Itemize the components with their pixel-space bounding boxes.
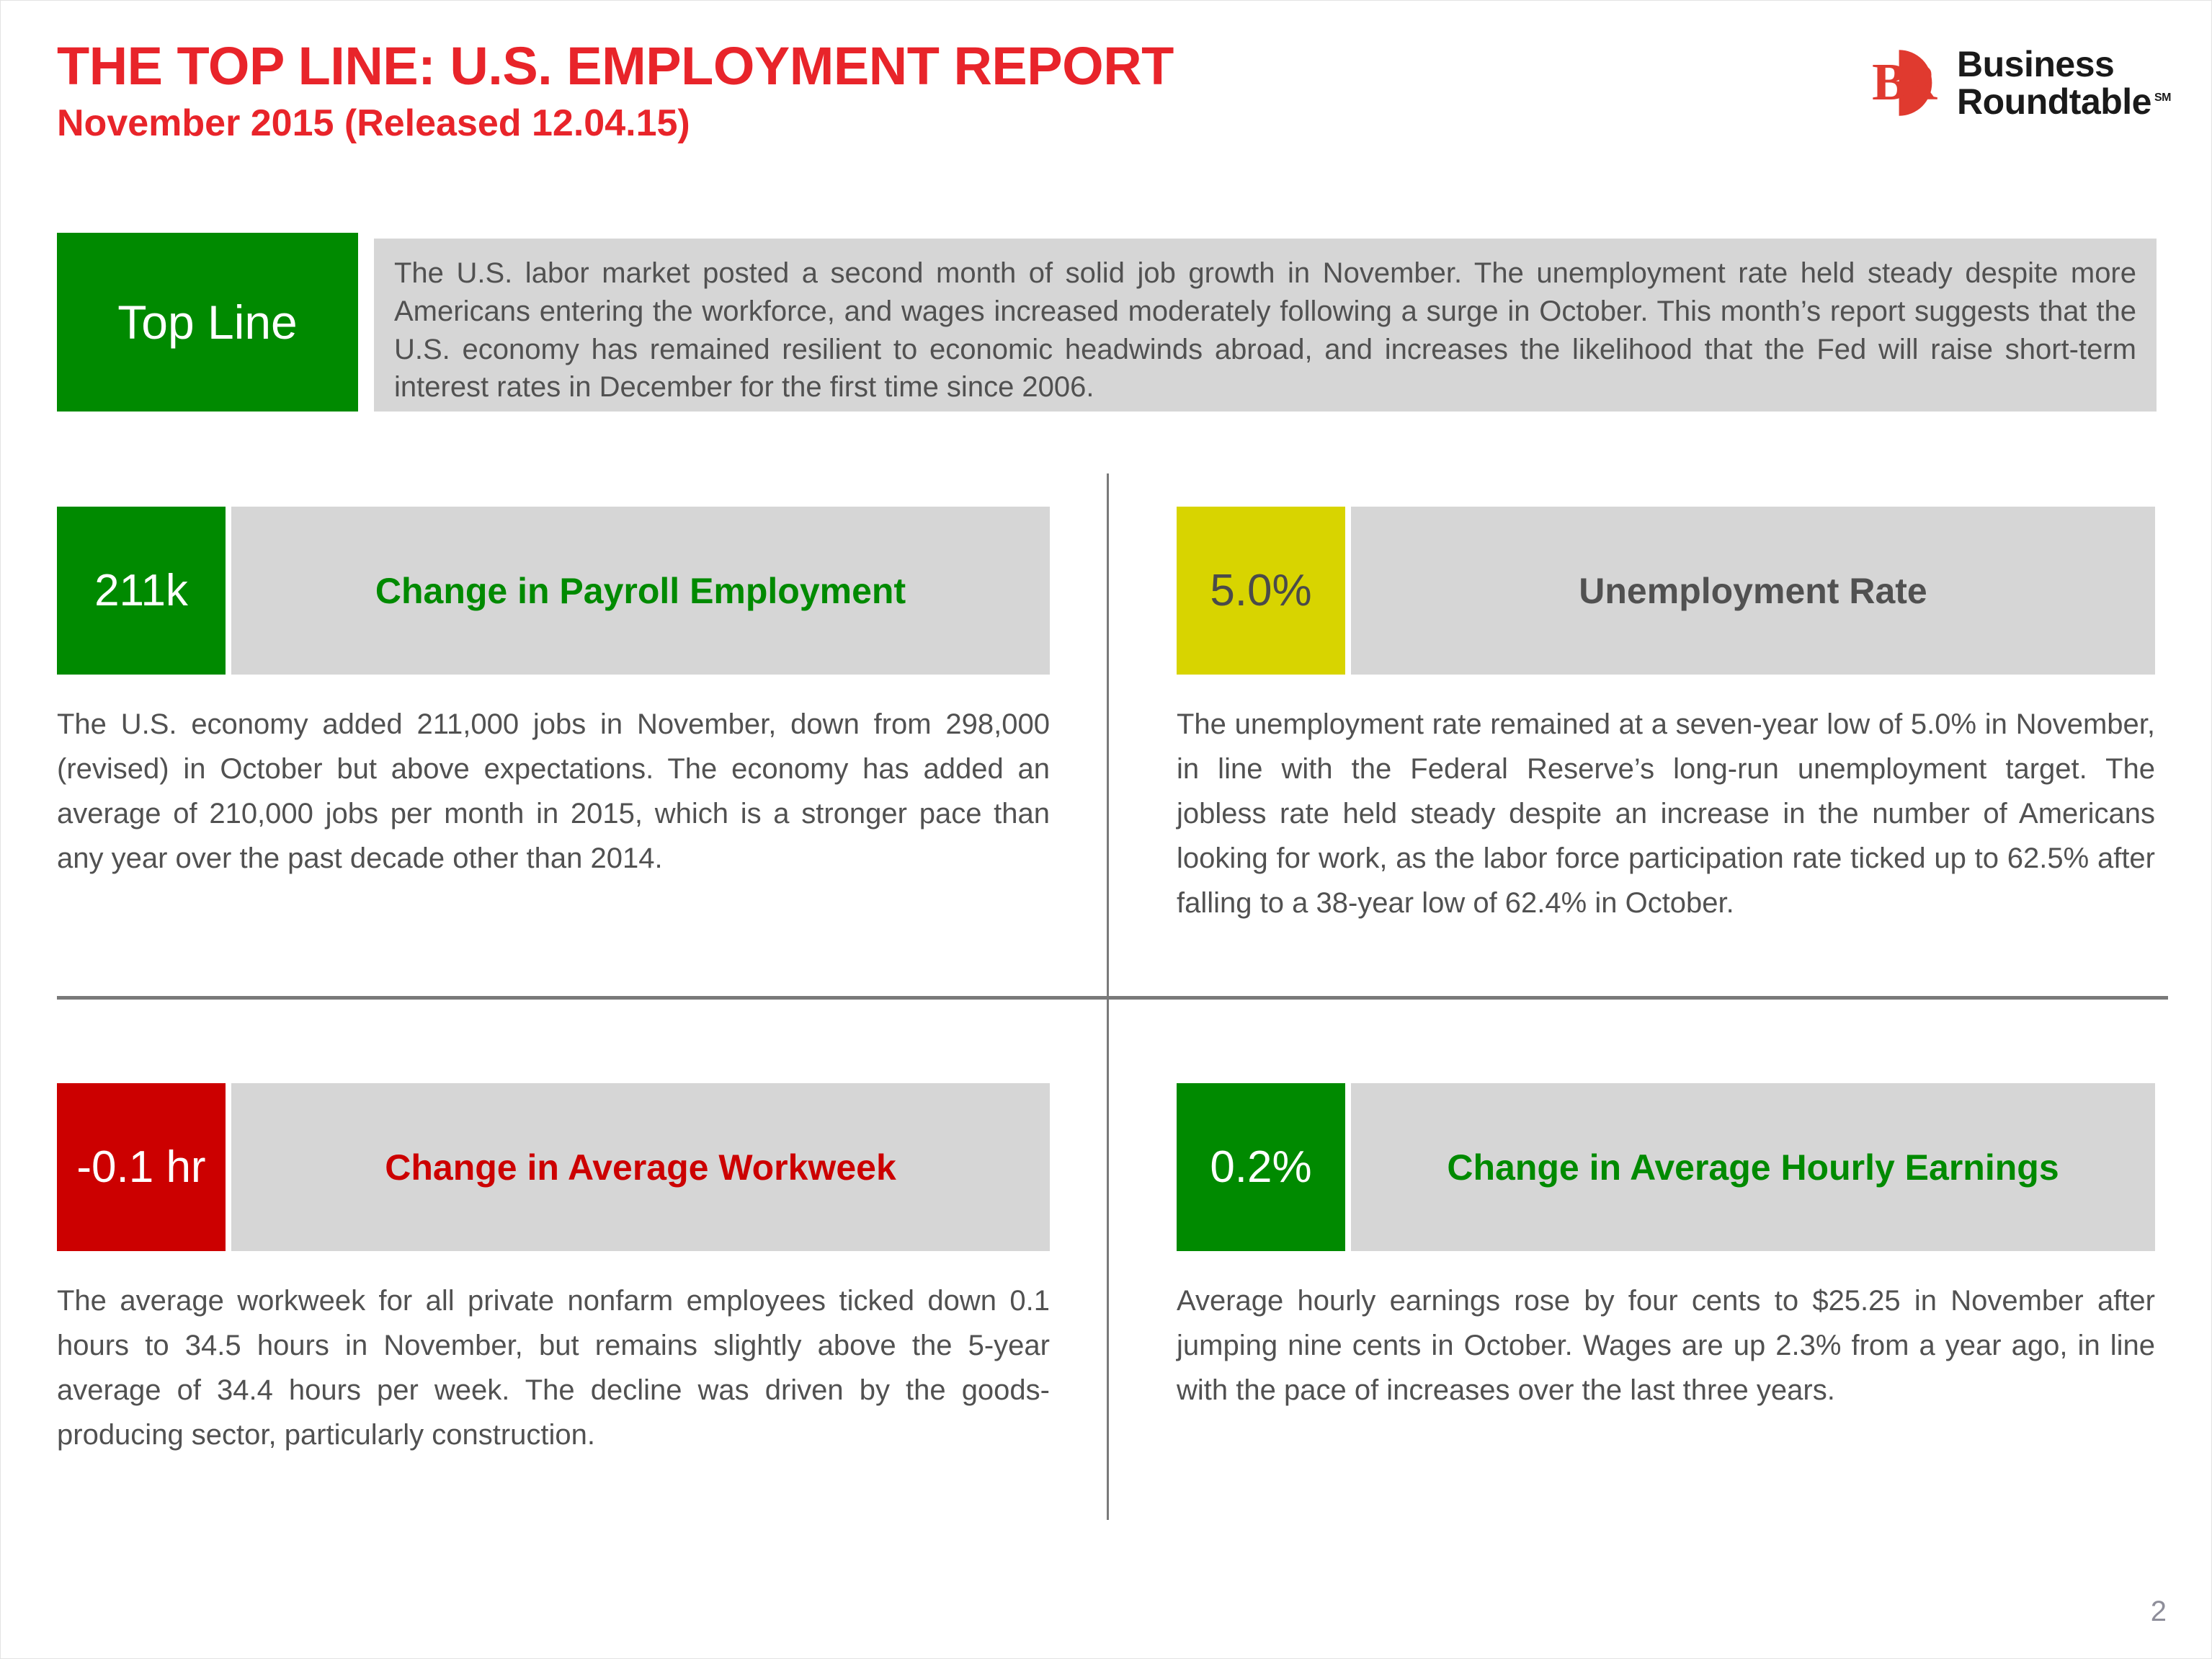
metric-badge-earnings: 0.2% [1177, 1083, 1345, 1251]
metric-value: 0.2% [1210, 1145, 1311, 1190]
metric-badge-workweek: -0.1 hr [57, 1083, 226, 1251]
metric-card-workweek: -0.1 hr Change in Average Workweek The a… [57, 1083, 1050, 1457]
metric-body-text: Average hourly earnings rose by four cen… [1177, 1278, 2155, 1413]
slide-canvas: THE TOP LINE: U.S. EMPLOYMENT REPORT Nov… [0, 0, 2212, 1659]
topline-badge: Top Line [57, 233, 358, 412]
metric-title: Change in Average Hourly Earnings [1447, 1147, 2059, 1188]
page-title: THE TOP LINE: U.S. EMPLOYMENT REPORT [57, 35, 1174, 97]
metric-card-header: 211k Change in Payroll Employment [57, 507, 1050, 675]
metric-card-header: 5.0% Unemployment Rate [1177, 507, 2155, 675]
logo-wordmark: Business RoundtableSM [1957, 45, 2171, 120]
metric-title: Change in Payroll Employment [375, 570, 906, 612]
metric-card-unemployment: 5.0% Unemployment Rate The unemployment … [1177, 507, 2155, 925]
metric-title-bar: Unemployment Rate [1351, 507, 2155, 675]
metric-body-text: The average workweek for all private non… [57, 1278, 1050, 1457]
metric-title: Change in Average Workweek [385, 1147, 896, 1188]
metric-card-header: 0.2% Change in Average Hourly Earnings [1177, 1083, 2155, 1251]
metric-body-text: The unemployment rate remained at a seve… [1177, 702, 2155, 925]
metric-card-payroll: 211k Change in Payroll Employment The U.… [57, 507, 1050, 881]
metric-card-header: -0.1 hr Change in Average Workweek [57, 1083, 1050, 1251]
metric-value: -0.1 hr [76, 1145, 205, 1190]
business-roundtable-logo: B R Business RoundtableSM [1869, 41, 2171, 125]
metric-body-text: The U.S. economy added 211,000 jobs in N… [57, 702, 1050, 881]
metric-title-bar: Change in Payroll Employment [231, 507, 1050, 675]
metric-badge-payroll: 211k [57, 507, 226, 675]
page-subtitle: November 2015 (Released 12.04.15) [57, 102, 690, 145]
metric-value: 5.0% [1210, 569, 1311, 613]
metric-value: 211k [94, 569, 188, 613]
topline-badge-label: Top Line [117, 298, 298, 346]
logo-line-1: Business [1957, 45, 2171, 83]
br-monogram-icon: B R [1869, 45, 1944, 120]
service-mark: SM [2154, 92, 2171, 104]
topline-summary-panel: The U.S. labor market posted a second mo… [374, 239, 2157, 412]
horizontal-divider [57, 996, 2168, 1000]
topline-summary-text: The U.S. labor market posted a second mo… [394, 254, 2136, 406]
svg-text:R: R [1899, 53, 1938, 111]
logo-line-2: RoundtableSM [1957, 83, 2171, 120]
page-number: 2 [2151, 1596, 2167, 1628]
metric-title: Unemployment Rate [1579, 570, 1927, 612]
metric-title-bar: Change in Average Workweek [231, 1083, 1050, 1251]
metric-card-earnings: 0.2% Change in Average Hourly Earnings A… [1177, 1083, 2155, 1413]
metric-badge-unemployment: 5.0% [1177, 507, 1345, 675]
metric-title-bar: Change in Average Hourly Earnings [1351, 1083, 2155, 1251]
